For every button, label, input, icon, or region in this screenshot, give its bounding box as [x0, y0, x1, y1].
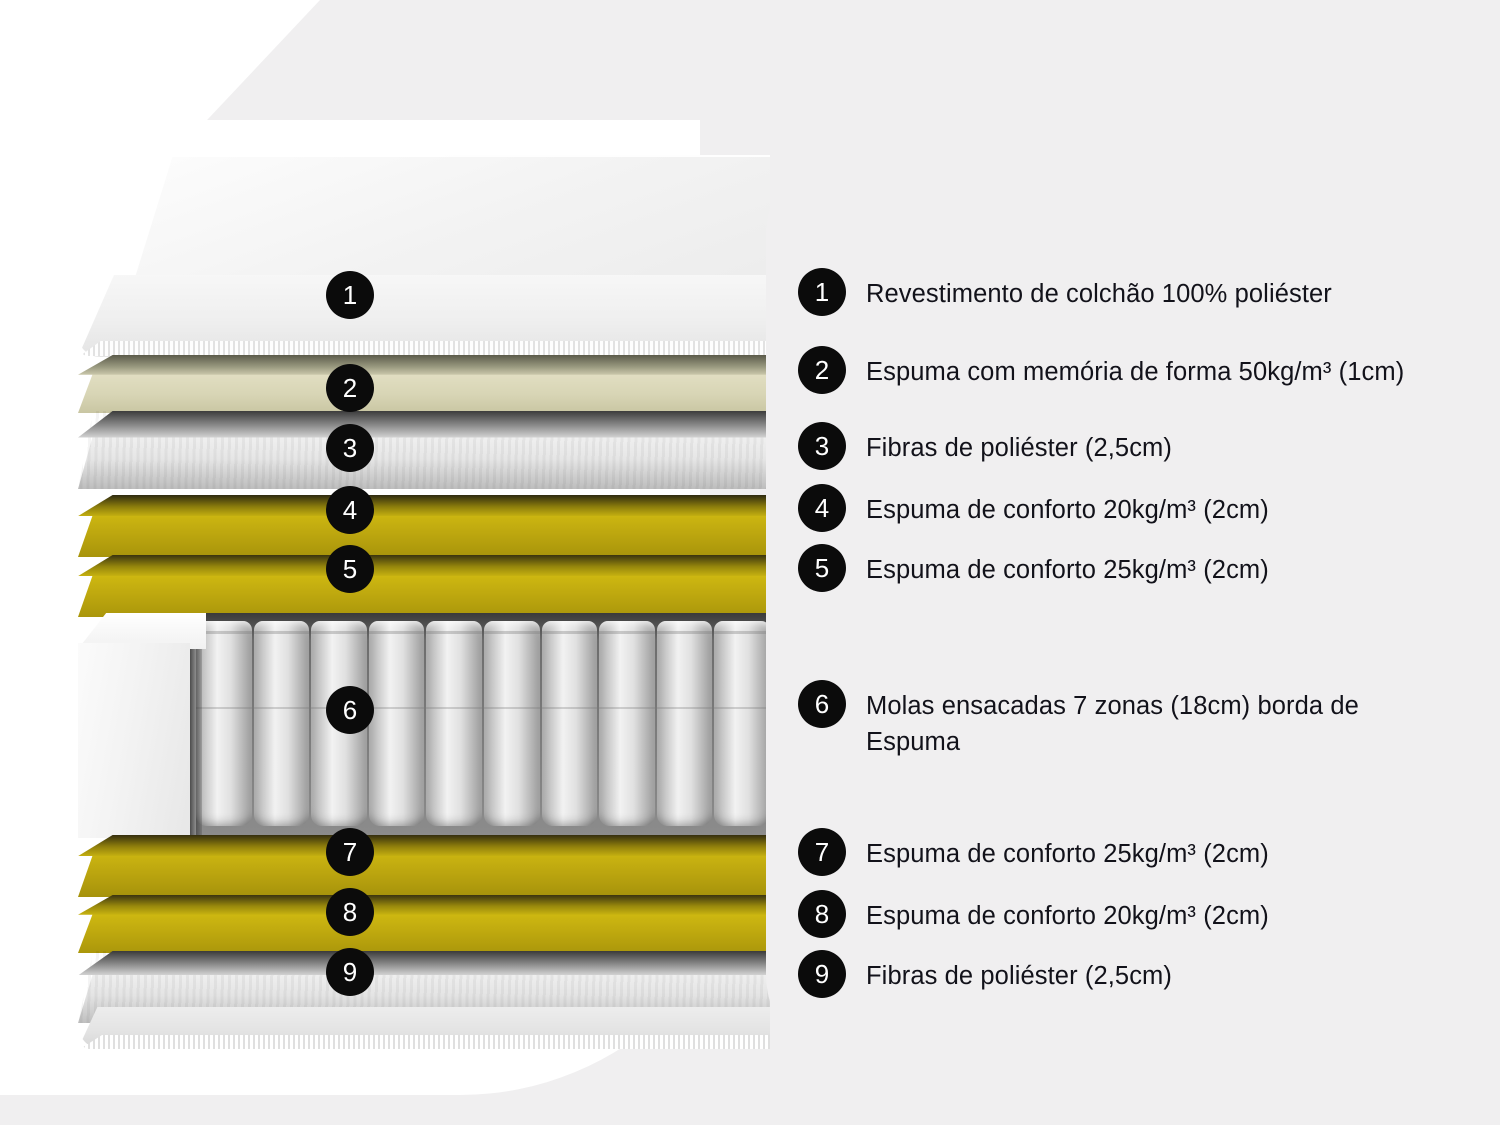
layer-bevel: [78, 355, 770, 375]
legend-badge-3: 3: [798, 422, 846, 470]
layer-bevel: [78, 951, 770, 975]
layer-memory-foam: [78, 355, 770, 413]
pocket-spring: [254, 621, 310, 826]
legend-item-5: 5 Espuma de conforto 25kg/m³ (2cm): [798, 544, 1269, 592]
legend-label-5: Espuma de conforto 25kg/m³ (2cm): [866, 544, 1269, 588]
mattress-cutaway-illustration: 1 2 3 4 5 6 7 8 9: [78, 155, 778, 1035]
layer-polyester-fibre-top: [78, 411, 770, 489]
layer-bevel: [78, 495, 770, 516]
legend-label-4: Espuma de conforto 20kg/m³ (2cm): [866, 484, 1269, 528]
layer-pocket-springs: [78, 613, 770, 843]
legend-item-7: 7 Espuma de conforto 25kg/m³ (2cm): [798, 828, 1269, 876]
layer-face: [78, 574, 770, 617]
legend-item-6: 6 Molas ensacadas 7 zonas (18cm) borda d…: [798, 680, 1411, 760]
legend-badge-4: 4: [798, 484, 846, 532]
layer-face: [78, 514, 770, 557]
pocket-spring: [196, 621, 252, 826]
legend-badge-8: 8: [798, 890, 846, 938]
pocket-spring: [426, 621, 482, 826]
diagram-badge-5: 5: [326, 545, 374, 593]
legend-item-9: 9 Fibras de poliéster (2,5cm): [798, 950, 1172, 998]
pocket-spring: [484, 621, 540, 826]
legend-badge-1: 1: [798, 268, 846, 316]
layer-bevel: [78, 411, 770, 438]
legend-item-3: 3 Fibras de poliéster (2,5cm): [798, 422, 1172, 470]
legend-label-9: Fibras de poliéster (2,5cm): [866, 950, 1172, 994]
layer-bevel: [78, 555, 770, 576]
legend-label-8: Espuma de conforto 20kg/m³ (2cm): [866, 890, 1269, 934]
diagram-badge-8: 8: [326, 888, 374, 936]
layer-bevel: [78, 895, 770, 915]
legend-badge-5: 5: [798, 544, 846, 592]
layer-comfort-foam-25-top: [78, 555, 770, 617]
foam-edge-block-face: [78, 643, 190, 838]
legend-badge-2: 2: [798, 346, 846, 394]
layer-comfort-foam-20-top: [78, 495, 770, 557]
pocket-spring: [542, 621, 598, 826]
pocket-spring: [369, 621, 425, 826]
pocket-spring: [714, 621, 770, 826]
mattress-layers-infographic: 1 2 3 4 5 6 7 8 9 1 Revestimento de colc…: [0, 0, 1500, 1125]
legend-label-6: Molas ensacadas 7 zonas (18cm) borda de …: [866, 680, 1411, 760]
legend-badge-6: 6: [798, 680, 846, 728]
diagram-badge-6: 6: [326, 686, 374, 734]
diagram-badge-2: 2: [326, 364, 374, 412]
spring-row: [196, 621, 770, 843]
diagram-badge-3: 3: [326, 424, 374, 472]
legend-badge-9: 9: [798, 950, 846, 998]
legend-item-2: 2 Espuma com memória de forma 50kg/m³ (1…: [798, 346, 1404, 394]
layer-face: [78, 372, 770, 413]
legend-label-7: Espuma de conforto 25kg/m³ (2cm): [866, 828, 1269, 872]
legend-label-3: Fibras de poliéster (2,5cm): [866, 422, 1172, 466]
legend-label-1: Revestimento de colchão 100% poliéster: [866, 268, 1332, 312]
layer-bevel: [78, 835, 770, 856]
diagram-badge-1: 1: [326, 271, 374, 319]
legend-label-2: Espuma com memória de forma 50kg/m³ (1cm…: [866, 346, 1404, 390]
mattress-cover-piping: [80, 341, 770, 356]
diagram-badge-4: 4: [326, 486, 374, 534]
pocket-spring: [599, 621, 655, 826]
diagram-badge-7: 7: [326, 828, 374, 876]
layer-face: [78, 912, 770, 953]
diagram-badge-9: 9: [326, 948, 374, 996]
mattress-base-piping: [80, 1035, 770, 1049]
pocket-spring: [657, 621, 713, 826]
legend-item-8: 8 Espuma de conforto 20kg/m³ (2cm): [798, 890, 1269, 938]
legend-badge-7: 7: [798, 828, 846, 876]
layer-face: [78, 854, 770, 897]
legend-item-4: 4 Espuma de conforto 20kg/m³ (2cm): [798, 484, 1269, 532]
legend-item-1: 1 Revestimento de colchão 100% poliéster: [798, 268, 1332, 316]
layer-comfort-foam-20-bottom: [78, 895, 770, 953]
layer-comfort-foam-25-bottom: [78, 835, 770, 897]
